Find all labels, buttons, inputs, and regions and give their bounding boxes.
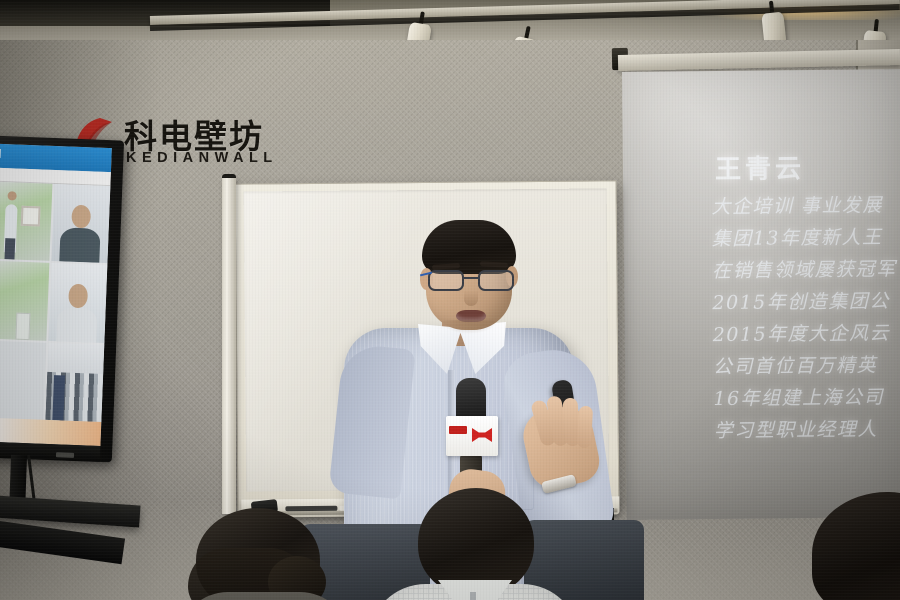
- microphone-flag: [446, 416, 498, 456]
- audience-member-right: [812, 492, 900, 600]
- audience-head: [418, 488, 534, 596]
- video-call-grid: [0, 182, 110, 422]
- glasses-lens-right: [478, 270, 514, 291]
- audience-member-center: [372, 488, 572, 600]
- video-tile-participant-female: [48, 263, 107, 342]
- presenter-nose: [464, 290, 478, 306]
- video-tile-crowd-person: [52, 375, 65, 420]
- video-tile-cabinet: [15, 313, 31, 340]
- projection-vignette: [622, 69, 900, 520]
- audience-member-left: [168, 508, 348, 600]
- projection-screen: 王青云 大企培训 事业发展 集团13年度新人王 在销售领域屡获冠军 2015年创…: [622, 69, 900, 520]
- video-tile-torso: [56, 307, 98, 343]
- glasses-lens-left: [428, 270, 464, 291]
- presenter-finger: [577, 406, 593, 449]
- wall-display[interactable]: KEDIANWALL: [0, 136, 124, 463]
- whiteboard-post: [222, 178, 236, 514]
- microphone-flag-logo-icon: [472, 428, 492, 442]
- video-tile-room-lower: [0, 261, 49, 340]
- presenter-chin-shadow: [440, 320, 498, 334]
- glasses-icon: [426, 270, 518, 292]
- video-tile-head: [71, 205, 91, 229]
- video-tile-wall-picture: [21, 206, 41, 227]
- video-tile-blank: [0, 340, 46, 419]
- video-tile-torso: [59, 228, 101, 264]
- seminar-photo: 科电壁坊 KEDIANWALL KEDIANWALL: [0, 0, 900, 600]
- display-brand-logo-icon: [56, 452, 74, 458]
- video-tile-room: [0, 182, 52, 261]
- audience-collar-line: [470, 592, 476, 600]
- video-tile-classroom: [45, 343, 104, 422]
- glasses-bridge: [464, 277, 478, 279]
- microphone-flag-text-mark: [449, 426, 467, 434]
- display-screen[interactable]: KEDIANWALL: [0, 144, 112, 446]
- logo-latin-text: KEDIANWALL: [126, 150, 278, 166]
- video-tile-head: [68, 284, 88, 308]
- display-reflected-text: KEDIANWALL: [0, 144, 2, 161]
- audience-head: [812, 492, 900, 600]
- video-tile-legs: [5, 238, 16, 260]
- video-tile-participant-male: [51, 184, 110, 263]
